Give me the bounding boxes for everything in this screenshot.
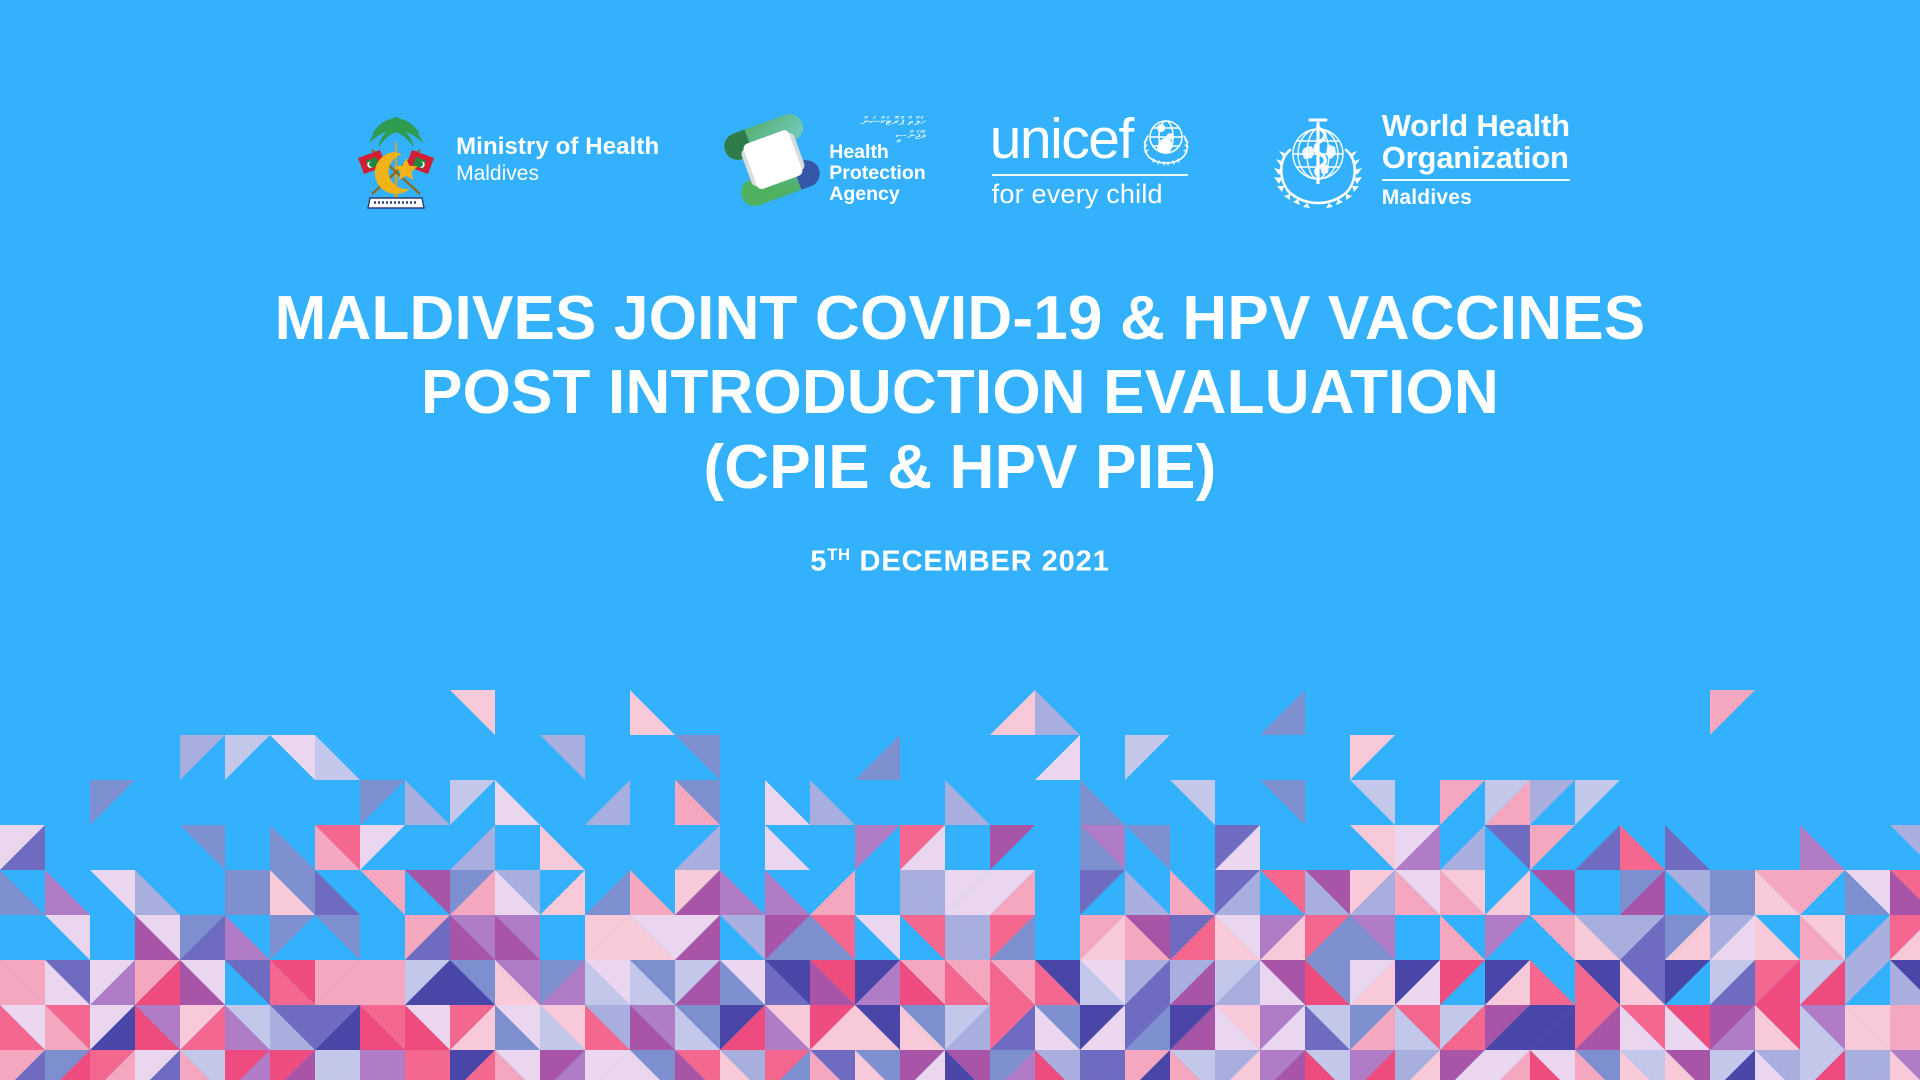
event-date: 5TH DECEMBER 2021 xyxy=(0,545,1920,579)
moh-name-line2: Maldives xyxy=(456,162,659,187)
unicef-wordmark: unicef xyxy=(990,113,1133,165)
slide-title-line2: POST INTRODUCTION EVALUATION xyxy=(0,356,1920,430)
who-name: World Health Organization Maldives xyxy=(1382,110,1570,210)
maldives-coat-of-arms-icon xyxy=(350,108,442,212)
unicef-emblem-icon xyxy=(1137,110,1195,168)
event-date-ordinal: TH xyxy=(827,545,850,564)
hpa-name-line1: Health xyxy=(829,143,925,163)
logo-ministry-of-health: Ministry of Health Maldives xyxy=(350,105,659,215)
event-date-day: 5 xyxy=(810,546,827,578)
logo-world-health-organization: World Health Organization Maldives xyxy=(1266,105,1570,215)
slide-title-line1: MALDIVES JOINT COVID-19 & HPV VACCINES xyxy=(0,282,1920,356)
unicef-tagline: for every child xyxy=(992,181,1202,208)
hpa-dhivehi-line1: ހެލްތް ޕްރޮޓެކްޝަން xyxy=(829,115,925,128)
who-name-line2: Organization xyxy=(1382,142,1570,174)
slide-title-line3: (CPIE & HPV PIE) xyxy=(0,431,1920,505)
who-divider xyxy=(1382,179,1570,181)
title-block: MALDIVES JOINT COVID-19 & HPV VACCINES P… xyxy=(0,282,1920,579)
moh-name-line1: Ministry of Health xyxy=(456,133,659,161)
logo-unicef: unicef xyxy=(990,105,1202,215)
hpa-name-line3: Agency xyxy=(829,185,925,205)
hpa-name: ހެލްތް ޕްރޮޓެކްޝަން އޭޖެންސީ Health Prot… xyxy=(829,115,925,205)
logo-health-protection-agency: ހެލްތް ޕްރޮޓެކްޝަން އޭޖެންސީ Health Prot… xyxy=(723,105,925,215)
hpa-capsule-icon xyxy=(723,114,821,206)
who-country-label: Maldives xyxy=(1382,186,1570,210)
who-emblem-icon xyxy=(1266,108,1370,212)
hpa-name-line2: Protection xyxy=(829,164,925,184)
unicef-divider xyxy=(992,174,1188,176)
event-date-month-year: DECEMBER 2021 xyxy=(859,546,1109,578)
slide-canvas: Ministry of Health Maldives xyxy=(0,0,1920,1080)
ministry-of-health-name: Ministry of Health Maldives xyxy=(456,133,659,186)
hpa-dhivehi-line2: އޭޖެންސީ xyxy=(829,129,925,142)
who-name-line1: World Health xyxy=(1382,110,1570,142)
partner-logo-strip: Ministry of Health Maldives xyxy=(0,100,1920,220)
